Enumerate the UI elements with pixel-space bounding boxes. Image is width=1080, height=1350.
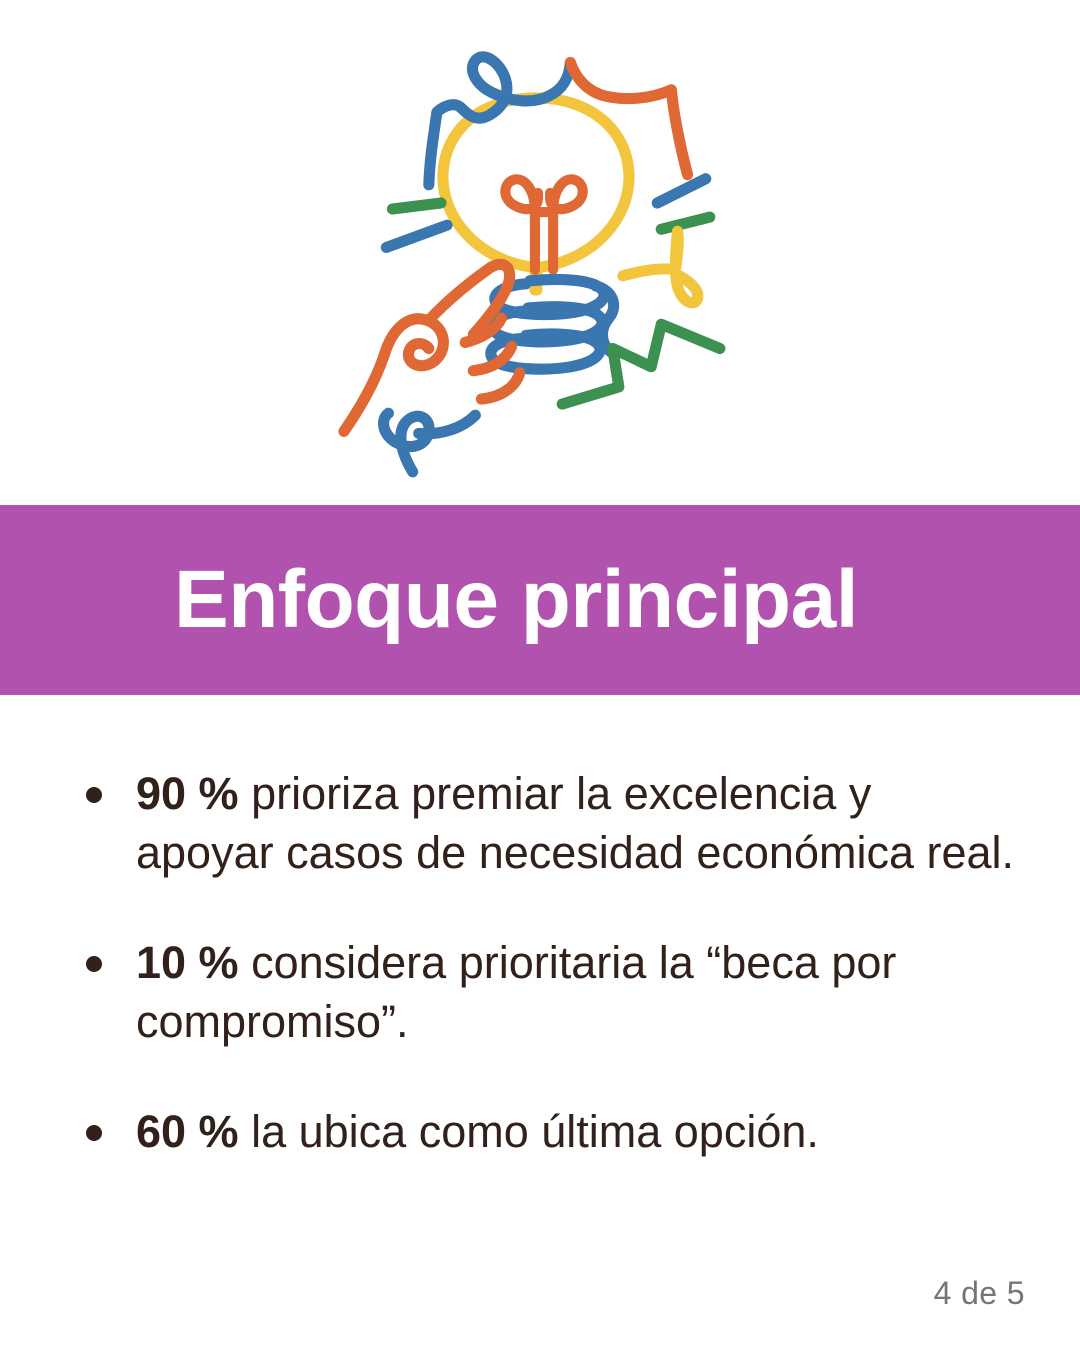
bullet-percent: 90 % [136,768,239,819]
burst-ray-blue-top-left [429,57,570,185]
bullet-dot-icon [86,1125,102,1141]
bullet-dot-icon [86,956,102,972]
hand-knuckle-3 [481,373,519,399]
list-item: 90 % prioriza premiar la excelencia y ap… [78,765,1020,882]
ray-blue-left [386,225,447,247]
title-band: Enfoque principal [0,505,1080,695]
bullet-list: 90 % prioriza premiar la excelencia y ap… [0,695,1080,1162]
squiggle-yellow-right [623,231,698,303]
list-item: 60 % la ubica como última opción. [78,1103,1020,1162]
bullet-dot-icon [86,787,102,803]
ray-blue-right [657,179,706,203]
ray-green-left [392,203,441,209]
bullet-text: prioriza premiar la excelencia y apoyar … [136,768,1014,878]
bullet-percent: 10 % [136,937,239,988]
bullet-text: la ubica como última opción. [239,1106,819,1157]
bulb-filament-left [505,179,538,269]
content-area: 90 % prioriza premiar la excelencia y ap… [0,695,1080,1350]
slide: Enfoque principal 90 % prioriza premiar … [0,0,1080,1350]
ray-green-right [661,217,710,229]
bullet-text: considera prioritaria la “beca por compr… [136,937,896,1047]
page-counter: 4 de 5 [934,1275,1025,1312]
list-item: 10 % considera prioritaria la “beca por … [78,934,1020,1051]
illustration-area [0,0,1080,505]
bullet-percent: 60 % [136,1106,239,1157]
hand-holding-lightbulb-icon [325,15,755,490]
page-title: Enfoque principal [0,559,858,641]
loop-blue-bottom-left [384,413,429,472]
